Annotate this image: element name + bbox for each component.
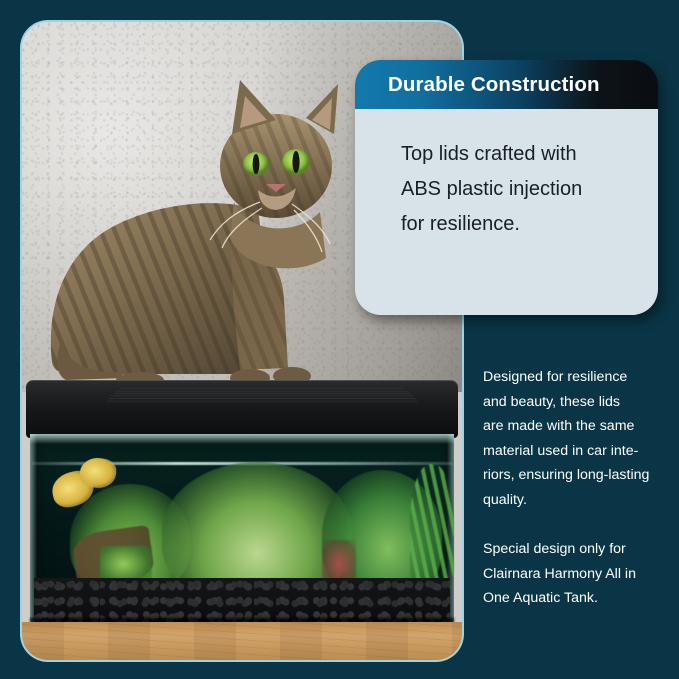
description-paragraph-2: Special design only for Clairnara Harmon… [483, 537, 669, 611]
infographic-canvas: Durable Construction Top lids crafted wi… [0, 0, 679, 679]
feature-callout-card: Durable Construction Top lids crafted wi… [355, 60, 658, 315]
tall-aquatic-grass [410, 464, 454, 592]
black-substrate-gravel [34, 578, 450, 622]
description-column: Designed for resilience and beauty, thes… [483, 365, 669, 611]
callout-header: Durable Construction [355, 60, 658, 109]
callout-title: Durable Construction [388, 73, 600, 97]
callout-body: Top lids crafted with ABS plastic inject… [355, 109, 658, 315]
tank-glass-top-edge [30, 434, 454, 444]
description-paragraph-1: Designed for resilience and beauty, thes… [483, 365, 669, 512]
callout-body-text: Top lids crafted with ABS plastic inject… [401, 137, 632, 242]
wooden-floor-grain [22, 622, 462, 660]
cat-illustration [44, 62, 354, 392]
lid-vent-grooves [104, 389, 419, 403]
